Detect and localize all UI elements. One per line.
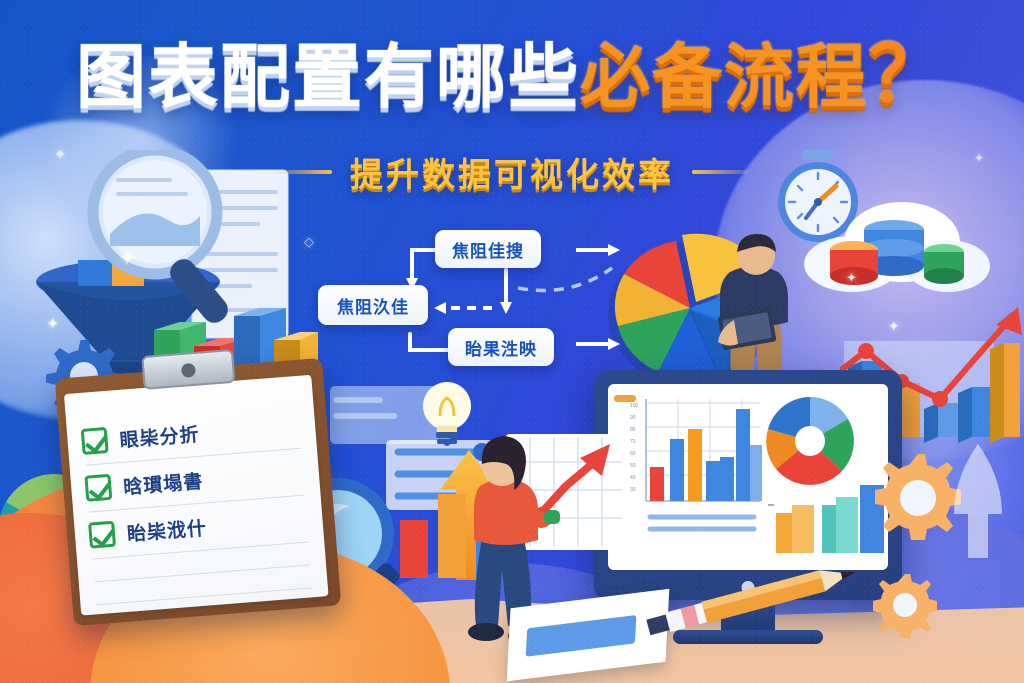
svg-text:60: 60 (630, 451, 636, 457)
chart-setup-checklist[interactable]: 眼枈分折 晗瑻塌書 眙枈浌什 (55, 358, 342, 626)
cloud-database-icon (794, 190, 994, 300)
legend-swatch (614, 395, 636, 402)
dashboard-text-lines (650, 517, 754, 529)
flow-node-top[interactable]: 焦阻佳搜 (435, 230, 541, 268)
bar-3d (958, 387, 990, 443)
checklist-item-label: 晗瑻塌書 (122, 466, 204, 499)
clipboard-paper: 眼枈分折 晗瑻塌書 眙枈浌什 (64, 375, 329, 616)
subtitle-rule-left (276, 170, 332, 174)
title-white-part: 图表配置有哪些 (76, 36, 580, 118)
monitor-base (673, 630, 823, 644)
banner-title: 图表配置有哪些必备流程？ (0, 36, 1024, 114)
bar-3d (924, 403, 958, 443)
monitor-bar-chart (650, 409, 762, 501)
svg-text:30: 30 (630, 487, 636, 493)
flow-node-bottom[interactable]: 眙果泩映 (448, 328, 554, 366)
monitor-mini-bars (776, 485, 884, 553)
svg-text:100: 100 (630, 403, 639, 409)
title-question-mark: ？ (868, 30, 948, 120)
sparkle-icon: ✦ (846, 272, 857, 285)
sparkle-icon: ✦ (46, 316, 59, 332)
svg-text:80: 80 (630, 427, 636, 433)
monitor-screen: 1009080 706050 4030 (608, 384, 888, 570)
y-axis-ticks: 1009080 706050 4030 (630, 403, 639, 493)
title-orange-part: 必备流程 (580, 36, 868, 118)
svg-text:40: 40 (630, 475, 636, 481)
sparkle-icon: ✦ (888, 320, 900, 334)
gear-icon-right-small (872, 572, 938, 638)
database-cylinder-green (924, 244, 964, 284)
subtitle-rule-right (692, 170, 748, 174)
infographic-banner: 焦阻佳搜 焦阻汣佳 眙果泩映 (0, 0, 1024, 683)
checklist-item-label: 眙枈浌什 (126, 513, 208, 546)
sparkle-icon: ✦ (932, 228, 949, 248)
banner-subtitle-row: 提升数据可视化效率 (0, 148, 1024, 196)
checkbox-checked[interactable] (88, 521, 116, 549)
checkbox-checked[interactable] (81, 427, 109, 455)
svg-text:70: 70 (630, 439, 636, 445)
arrow-up-icon-right (938, 440, 1018, 580)
checkbox-checked[interactable] (84, 474, 112, 502)
paper-chart-block (526, 615, 637, 657)
flow-node-left[interactable]: 焦阻汣佳 (318, 285, 428, 325)
monitor-donut-chart (766, 397, 854, 485)
dashboard-charts: 1009080 706050 4030 (608, 384, 888, 570)
sparkle-icon: ◇ (304, 236, 314, 249)
svg-text:90: 90 (630, 415, 636, 421)
sparkle-icon: ✦ (118, 248, 136, 270)
checklist-item-label: 眼枈分折 (119, 419, 201, 452)
dashboard-monitor[interactable]: 1009080 706050 4030 (594, 370, 902, 600)
divider (95, 564, 310, 582)
clipboard-clip (141, 349, 235, 390)
bar-3d (990, 343, 1020, 443)
banner-subtitle: 提升数据可视化效率 (350, 148, 674, 196)
svg-text:50: 50 (630, 463, 636, 469)
